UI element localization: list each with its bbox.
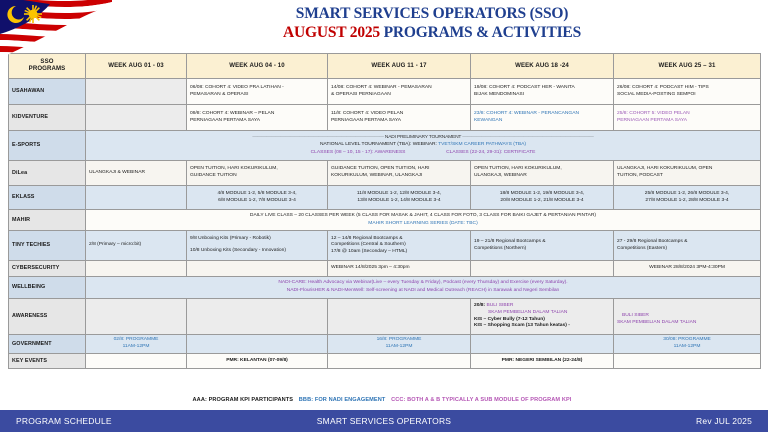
cell-key-w1 [86,354,187,369]
cell-tiny-w2: 9/8 Unboxing Kits (Primary - Robotik) 10… [187,231,328,261]
row-label-cybersecurity: CYBERSECURITY [9,261,86,277]
cell-dilea-w1: ULANGKAJI & WEBINAR [86,161,187,186]
cell-tiny-w3: 12 – 14/8 Regional Bootcamps & Competiti… [328,231,471,261]
table-row-key-events: KEY EVENTS PMR: KELANTAN (07-09/8) PMR: … [9,354,761,369]
cell-usahawan-w4: 19/08: COHORT 4: PODCAST HER - WANITA BI… [471,79,614,105]
table-row-awareness: AWARENESS 20/8: BULI SIBER SKAM PEMBELIA… [9,299,761,335]
row-label-mahir: MAHIR [9,210,86,231]
column-header-week-2: WEEK AUG 04 - 10 [187,54,328,79]
cell-awareness-w5: BULI SIBER SKAM PEMBELIAN DALAM TALIAN [614,299,761,335]
table-row-cybersecurity: CYBERSECURITY WEBINAR 14/8/2025 3pm – 4:… [9,261,761,277]
footer-left: PROGRAM SCHEDULE [16,416,112,426]
table-row-mahir: MAHIR DAILY LIVE CLASS – 20 CLASSES PER … [9,210,761,231]
cell-usahawan-w1 [86,79,187,105]
table-row-kidventure: KIDVENTURE 09/8: COHORT 4: WEBINAR – PEL… [9,105,761,131]
table-row-government: GOVERNMENT 02/8: PROGRAMME 11AM-12PM 16/… [9,335,761,354]
cell-eklass-w5: 25/8 MODULE 1-2, 26/8 MODULE 3-4, 27/8 M… [614,186,761,210]
cell-cyber-w3: WEBINAR 14/8/2025 3pm – 4:30pm [328,261,471,277]
cell-awareness-w1 [86,299,187,335]
cell-usahawan-w3: 14/08: COHORT 4: WEBINAR - PEMASARAN & O… [328,79,471,105]
cell-dilea-w2: OPEN TUITION, HARI KOKURIKULUM, GUIDANCE… [187,161,328,186]
cell-cyber-w4 [471,261,614,277]
cell-kidventure-w5: 25/8: COHORT 5: VIDEO PELAN PERNIAGAAN P… [614,105,761,131]
title-line-2: AUGUST 2025 PROGRAMS & ACTIVITIES [112,23,752,42]
row-label-key-events: KEY EVENTS [9,354,86,369]
cell-esports-span: ———————————————————————————— NADI PRELIM… [86,131,761,161]
column-header-week-5: WEEK AUG 25 – 31 [614,54,761,79]
cell-eklass-w2: 4/8 MODULE 1-2, 5/8 MODULE 3-4, 6/8 MODU… [187,186,328,210]
cell-dilea-w5: ULANGKAJI, HARI KOKURIKULUM, OPEN TUITIO… [614,161,761,186]
footer-bar: PROGRAM SCHEDULE SMART SERVICES OPERATOR… [0,410,768,432]
cell-cyber-w1 [86,261,187,277]
cell-awareness-w4: 20/8: BULI SIBER SKAM PEMBELIAN DALAM TA… [471,299,614,335]
footer-center: SMART SERVICES OPERATORS [0,416,768,426]
row-label-awareness: AWARENESS [9,299,86,335]
cell-tiny-w4: 19 – 21/8 Regional Bootcamps & Competiti… [471,231,614,261]
legend-item-ccc: CCC: BOTH A & B TYPICALLY A SUB MODULE O… [391,397,571,403]
table-row-dilea: DiLea ULANGKAJI & WEBINAR OPEN TUITION, … [9,161,761,186]
column-header-week-4: WEEK AUG 18 -24 [471,54,614,79]
cell-awareness-w2 [187,299,328,335]
cell-tiny-w5: 27 - 29/8 Regional Bootcamps & Competiti… [614,231,761,261]
table-row-usahawan: USAHAWAN 06/08: COHORT 4: VIDEO PRA LATI… [9,79,761,105]
title-rest: PROGRAMS & ACTIVITIES [380,24,581,41]
title-month: AUGUST 2025 [283,24,380,41]
esports-line-2: NATIONAL LEVEL TOURNAMENT (TBA): WEBINAR… [89,142,757,149]
cell-tiny-w1: 2/8 (Primary – micro:bit) [86,231,187,261]
cell-awareness-w3 [328,299,471,335]
cell-gov-w2 [187,335,328,354]
cell-cyber-w2 [187,261,328,277]
esports-line-1: ———————————————————————————— NADI PRELIM… [89,135,757,142]
row-label-wellbeing: WELLBEING [9,277,86,299]
cell-kidventure-w3: 11/8: COHORT 4: VIDEO PELAN PERNIAGAAN P… [328,105,471,131]
cell-mahir-span: DAILY LIVE CLASS – 20 CLASSES PER WEEK (… [86,210,761,231]
cell-key-w2: PMR: KELANTAN (07-09/8) [187,354,328,369]
cell-gov-w5: 30/08: PROGRAMME 11AM-12PM [614,335,761,354]
title-line-1: SMART SERVICES OPERATORS (SSO) [112,4,752,23]
row-label-tiny-techies: TINY TECHIES [9,231,86,261]
cell-cyber-w5: WEBINAR 28/8/2024 3PM-4:30PM [614,261,761,277]
cell-dilea-w3: GUIDANCE TUITION, OPEN TUITION, HARI KOK… [328,161,471,186]
footer-right: Rev JUL 2025 [696,416,752,426]
column-header-week-3: WEEK AUG 11 - 17 [328,54,471,79]
cell-kidventure-w4: 23/8: COHORT 4: WEBINAR - PERANCANGAN KE… [471,105,614,131]
legend: AAA: PROGRAM KPI PARTICIPANTS BBB: FOR N… [0,397,768,403]
row-label-dilea: DiLea [9,161,86,186]
row-label-government: GOVERNMENT [9,335,86,354]
wellbeing-line-2: NADI-FlourisHER & NADI-MenWell: Self-scr… [89,288,757,295]
table-row-wellbeing: WELLBEING NADI-CARE: Health Advocacy via… [9,277,761,299]
cell-kidventure-w1 [86,105,187,131]
row-label-esports: E-SPORTS [9,131,86,161]
cell-eklass-w1 [86,186,187,210]
table-row-esports: E-SPORTS ———————————————————————————— NA… [9,131,761,161]
row-label-usahawan: USAHAWAN [9,79,86,105]
cell-usahawan-w2: 06/08: COHORT 4: VIDEO PRA LATIHAN - PEM… [187,79,328,105]
page-title: SMART SERVICES OPERATORS (SSO) AUGUST 20… [112,4,752,42]
cell-gov-w3: 16/8: PROGRAMME 11AM-12PM [328,335,471,354]
cell-key-w3 [328,354,471,369]
schedule-table: SSO PROGRAMS WEEK AUG 01 - 03 WEEK AUG 0… [8,53,761,369]
malaysia-flag-icon [0,0,112,62]
cell-key-w5 [614,354,761,369]
cell-eklass-w4: 18/8 MODULE 1-2, 19/8 MODULE 3-4, 20/8 M… [471,186,614,210]
cell-key-w4: PMR: NEGERI SEMBILAN (22-24/8) [471,354,614,369]
table-header-row: SSO PROGRAMS WEEK AUG 01 - 03 WEEK AUG 0… [9,54,761,79]
table-row-tiny-techies: TINY TECHIES 2/8 (Primary – micro:bit) 9… [9,231,761,261]
cell-dilea-w4: OPEN TUITION, HARI KOKURIKULUM, ULANGKAJ… [471,161,614,186]
row-label-eklass: EKLASS [9,186,86,210]
cell-gov-w1: 02/8: PROGRAMME 11AM-12PM [86,335,187,354]
row-label-kidventure: KIDVENTURE [9,105,86,131]
cell-eklass-w3: 11/8 MODULE 1-2, 12/8 MODULE 3-4, 13/8 M… [328,186,471,210]
legend-item-bbb: BBB: FOR NADI ENGAGEMENT [299,397,386,403]
mahir-line-1: DAILY LIVE CLASS – 20 CLASSES PER WEEK (… [89,213,757,220]
cell-gov-w4 [471,335,614,354]
cell-usahawan-w5: 26/08: COHORT 4: PODCAST HIM - TIPS SOCI… [614,79,761,105]
legend-item-aaa: AAA: PROGRAM KPI PARTICIPANTS [193,397,294,403]
mahir-line-2: MAHIR SHORT LEARNING SERIES (DATE: TBC) [89,221,757,228]
esports-line-3: CLASSES (08 – 10, 15 - 17): AWARENESS CL… [89,150,757,157]
wellbeing-line-1: NADI-CARE: Health Advocacy via Webinar(L… [89,280,757,287]
table-row-eklass: EKLASS 4/8 MODULE 1-2, 5/8 MODULE 3-4, 6… [9,186,761,210]
cell-wellbeing-span: NADI-CARE: Health Advocacy via Webinar(L… [86,277,761,299]
cell-kidventure-w2: 09/8: COHORT 4: WEBINAR – PELAN PERNIAGA… [187,105,328,131]
